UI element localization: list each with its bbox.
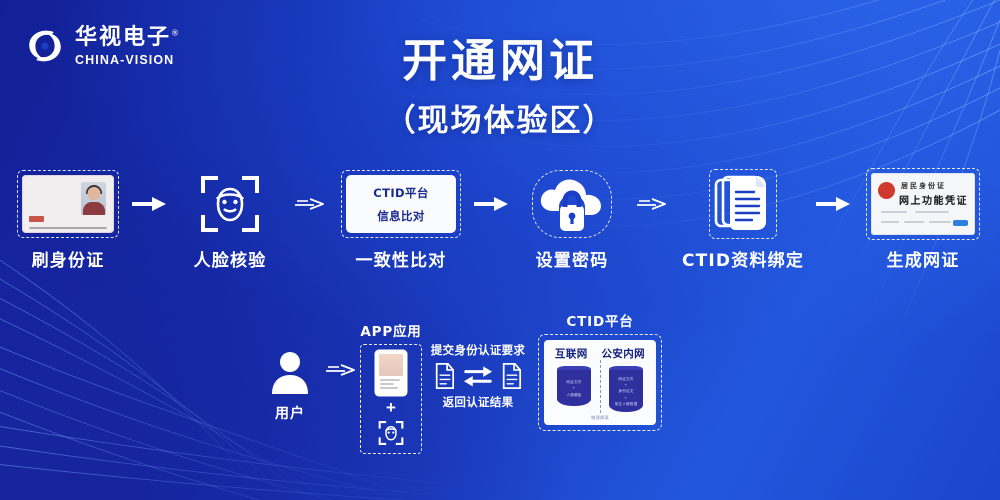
- database-cylinder-internet: 网证文件 + 人像模板: [557, 366, 591, 412]
- face-scan-icon: [378, 420, 404, 446]
- db-left-line2: +: [572, 386, 575, 391]
- flow-step-label: 刷身份证: [32, 246, 105, 271]
- net-card-dashed-frame: 居民身份证 网上功能凭证: [866, 168, 980, 240]
- user-label: 用户: [262, 403, 318, 423]
- plus-sign: +: [386, 399, 396, 416]
- face-scan-art: [199, 168, 261, 240]
- phone-icon: [376, 351, 406, 395]
- user-block: 用户: [262, 350, 318, 423]
- net-credential-art: 居民身份证 网上功能凭证: [866, 168, 980, 240]
- net-card-line1: 居民身份证: [901, 181, 946, 191]
- red-seal-icon: [878, 182, 895, 199]
- flow-step-face-verify: 人脸核验: [171, 168, 289, 271]
- app-dashed-frame: +: [360, 344, 422, 454]
- outline-arrow-icon: [294, 196, 328, 212]
- cloud-lock-icon: [537, 175, 607, 233]
- exchange-arrows-icon: [464, 365, 492, 387]
- page-title: 开通网证 （现场体验区）: [0, 34, 1000, 140]
- flow-step-label: 生成网证: [887, 246, 960, 271]
- db-left-line3: 人像模板: [566, 393, 581, 398]
- card-chip-icon: [953, 220, 968, 226]
- flow-arrow-5: [811, 168, 855, 240]
- flow-arrow-2: [289, 168, 333, 240]
- ctid-platform-block: CTID平台 互联网 公安内网 网证文件 + 人像: [538, 310, 662, 431]
- outline-arrow-icon: [636, 196, 670, 212]
- flow-step-set-password: 设置密码: [513, 168, 631, 271]
- flow-step-consistency-compare: CTID平台 信息比对 一致性比对: [333, 168, 469, 271]
- app-block: APP应用 +: [360, 320, 422, 454]
- zone-label-internet: 互联网: [555, 346, 588, 361]
- ctid-platform-footnote: 物理隔离: [548, 415, 652, 421]
- request-label: 提交身份认证要求: [428, 342, 528, 358]
- user-icon: [270, 350, 310, 394]
- document-icon: [501, 363, 522, 389]
- documents-icon: [714, 174, 772, 234]
- app-caption: APP应用: [360, 320, 422, 340]
- id-card-icon: [22, 175, 114, 233]
- exchange-icons: [428, 363, 528, 389]
- db-right-line3: 身份证文: [618, 389, 633, 394]
- application-principle-section: 用户 APP应用 +: [0, 300, 1000, 480]
- flow-step-generate-net-cert: 居民身份证 网上功能凭证 生成网证: [855, 168, 991, 271]
- db-right-line5: 常住人像数据: [615, 402, 638, 407]
- cloud-lock-dashed-frame: [532, 170, 612, 238]
- id-card-art: [17, 168, 119, 240]
- flow-step-label: 一致性比对: [356, 246, 447, 271]
- flow-arrow-3: [469, 168, 513, 240]
- documents-dashed-frame: [709, 169, 777, 239]
- flow-step-label: 设置密码: [536, 246, 609, 271]
- zone-label-police-intranet: 公安内网: [601, 346, 645, 361]
- exchange-block: 提交身份认证要求: [428, 342, 528, 410]
- db-right-line4: +: [624, 396, 627, 401]
- flow-step-id-card: 刷身份证: [9, 168, 127, 271]
- title-main: 开通网证: [0, 34, 1000, 87]
- cloud-lock-art: [532, 168, 612, 240]
- database-cylinder-intranet: 网证文件 + 身份证文 + 常住人像数据: [609, 366, 643, 412]
- response-label: 返回认证结果: [428, 394, 528, 410]
- solid-arrow-icon: [474, 197, 508, 211]
- ctid-compare-box: CTID平台 信息比对: [346, 175, 456, 233]
- db-left-line1: 网证文件: [566, 380, 581, 385]
- ctid-zone-headers: 互联网 公安内网: [548, 346, 652, 361]
- ctid-platform-caption: CTID平台: [538, 310, 662, 330]
- ctid-box-dashed-frame: CTID平台 信息比对: [341, 170, 461, 238]
- title-subtitle: （现场体验区）: [0, 95, 1000, 140]
- ctid-box-line2: 信息比对: [377, 208, 425, 224]
- db-right-line1: 网证文件: [618, 377, 633, 382]
- user-to-app-arrow: [325, 362, 359, 383]
- ctid-platform-inner: 互联网 公安内网 网证文件 + 人像模板: [544, 340, 656, 425]
- ctid-compare-art: CTID平台 信息比对: [341, 168, 461, 240]
- net-credential-card-icon: 居民身份证 网上功能凭证: [871, 173, 975, 235]
- flow-arrow-4: [631, 168, 675, 240]
- ctid-box-line1: CTID平台: [373, 185, 429, 201]
- flow-step-label: 人脸核验: [194, 246, 267, 271]
- flow-arrow-1: [127, 168, 171, 240]
- solid-arrow-icon: [816, 197, 850, 211]
- net-card-line2: 网上功能凭证: [899, 192, 968, 207]
- solid-arrow-icon: [132, 197, 166, 211]
- slide-canvas: 华视电子® CHINA-VISION 开通网证 （现场体验区）: [0, 0, 1000, 500]
- id-card-dashed-frame: [17, 170, 119, 238]
- outline-arrow-icon: [325, 362, 359, 378]
- face-scan-icon: [199, 174, 261, 234]
- document-icon: [434, 363, 455, 389]
- db-right-line2: +: [624, 383, 627, 388]
- flow-step-ctid-binding: CTID资料绑定: [675, 168, 811, 271]
- zone-divider: [600, 360, 601, 413]
- documents-art: [709, 168, 777, 240]
- enrollment-flow: 刷身份证: [0, 168, 1000, 272]
- flow-step-label: CTID资料绑定: [682, 246, 804, 271]
- ctid-platform-dashed-frame: 互联网 公安内网 网证文件 + 人像模板: [538, 334, 662, 431]
